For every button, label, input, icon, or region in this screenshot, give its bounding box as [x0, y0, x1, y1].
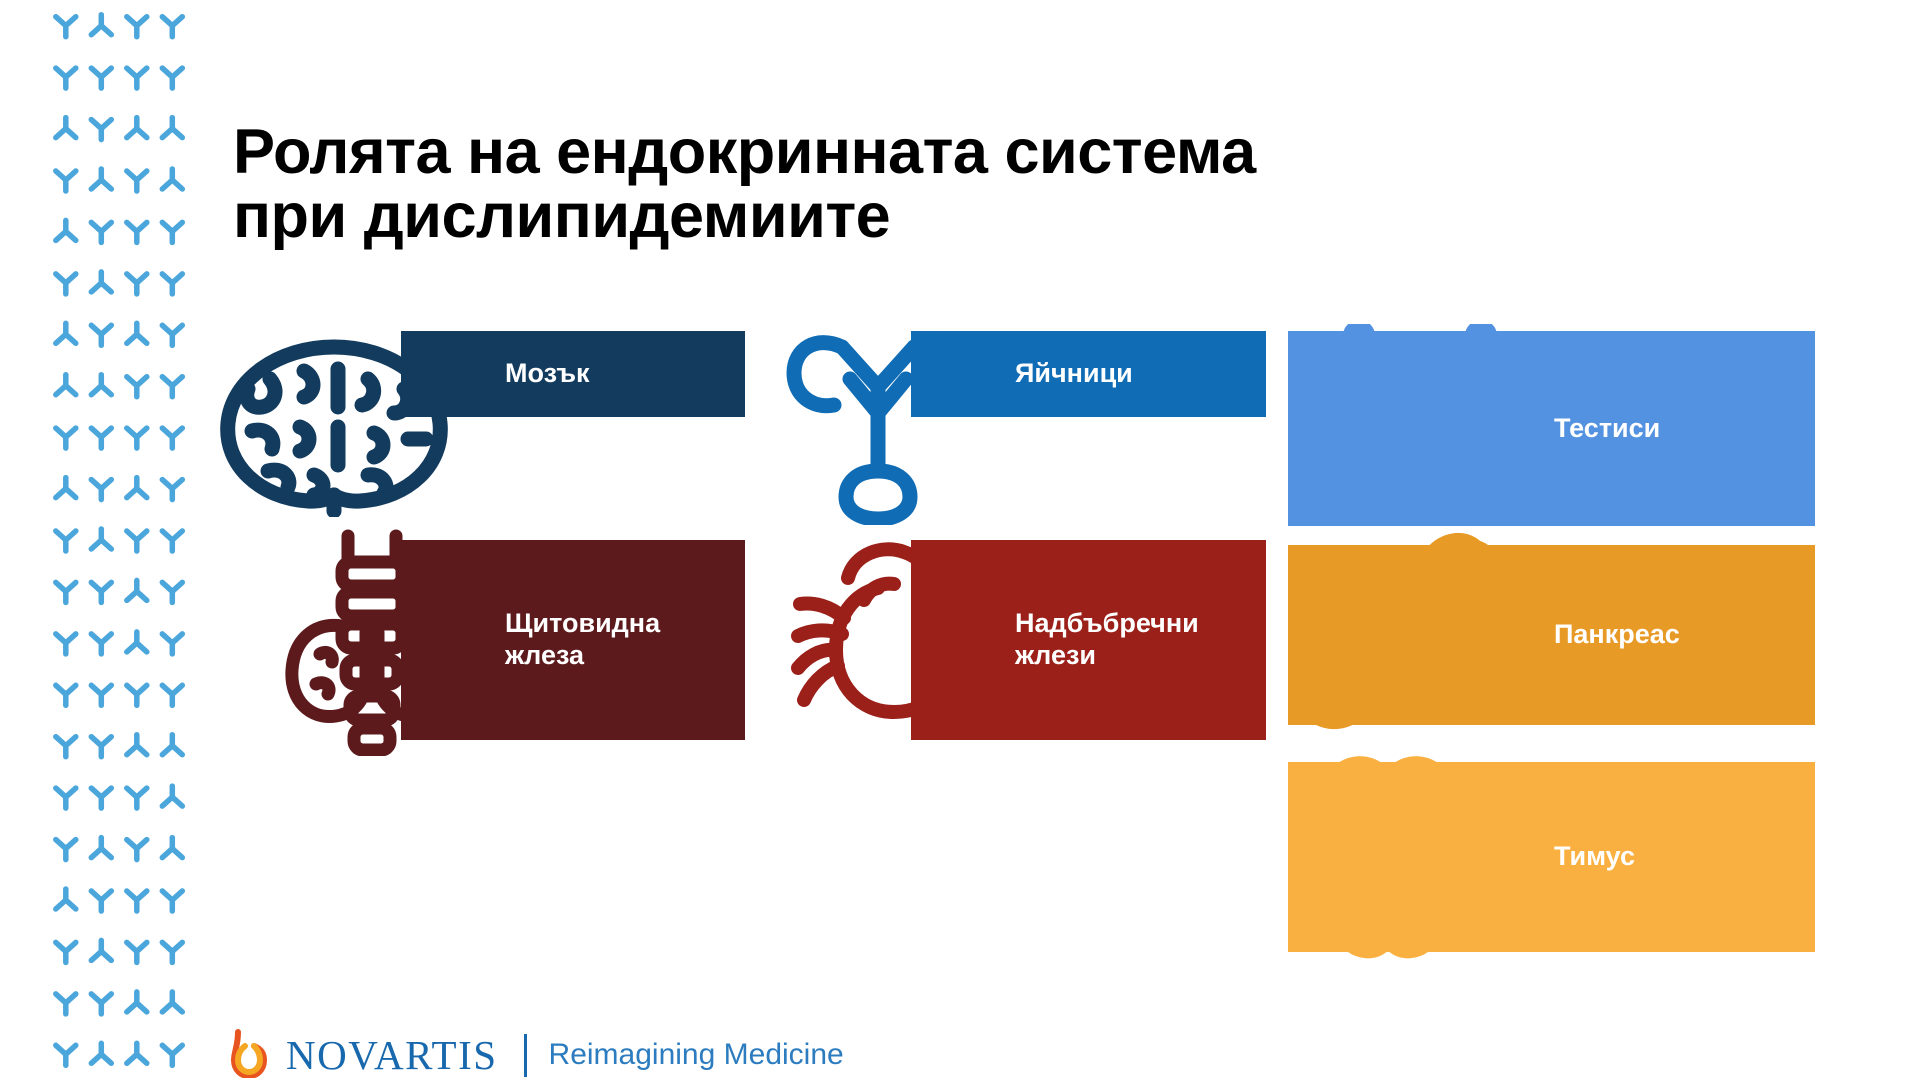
novartis-wordmark: NOVARTIS: [286, 1035, 498, 1076]
slide-title: Ролята на ендокринната система при дисли…: [233, 120, 1793, 249]
thyroid-label: Щитовидна жлеза: [505, 608, 660, 671]
pancreas-bar: Панкреас: [1288, 545, 1815, 725]
brain-label: Мозък: [505, 358, 590, 390]
novartis-flame-icon: [228, 1028, 270, 1083]
pancreas-label: Панкреас: [1554, 619, 1680, 651]
brain-bar: Мозък: [401, 331, 745, 417]
thyroid-bar: Щитовидна жлеза: [401, 540, 745, 740]
novartis-tagline: Reimagining Medicine: [549, 1040, 844, 1070]
novartis-logo: NOVARTIS Reimagining Medicine: [228, 1028, 844, 1082]
ovaries-label: Яйчници: [1015, 358, 1133, 390]
adrenal-bar: Надбъбречни жлези: [911, 540, 1266, 740]
y-glyph-grid-icon: [48, 0, 190, 1080]
thymus-label: Тимус: [1554, 841, 1635, 873]
testes-bar: Тестиси: [1288, 331, 1815, 526]
testes-label: Тестиси: [1554, 413, 1660, 445]
slide-canvas: Ролята на ендокринната система при дисли…: [0, 0, 1920, 1080]
adrenal-label: Надбъбречни жлези: [1015, 608, 1199, 671]
decorative-pattern-strip: [48, 0, 190, 1080]
ovaries-bar: Яйчници: [911, 331, 1266, 417]
logo-divider: [524, 1034, 527, 1077]
thymus-bar: Тимус: [1288, 762, 1815, 952]
